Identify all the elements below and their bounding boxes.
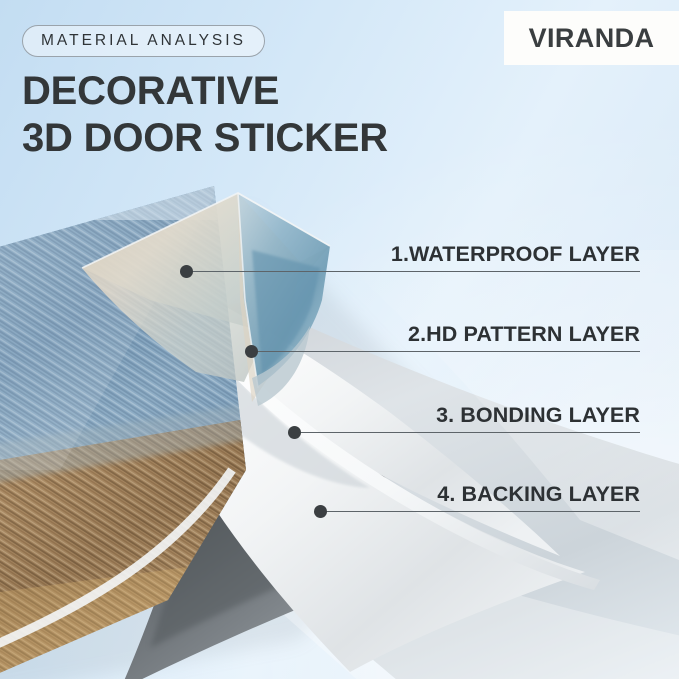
callout-2: 2.HD PATTERN LAYER bbox=[408, 322, 640, 352]
leader-line-4 bbox=[326, 511, 640, 512]
leader-dot-3 bbox=[288, 426, 301, 439]
callout-4: 4. BACKING LAYER bbox=[437, 482, 640, 512]
callout-label: 1.WATERPROOF LAYER bbox=[391, 242, 640, 271]
leader-line-2 bbox=[257, 351, 640, 352]
callout-label: 4. BACKING LAYER bbox=[437, 482, 640, 511]
callout-label: 2.HD PATTERN LAYER bbox=[408, 322, 640, 351]
brand-logo: VIRANDA bbox=[504, 11, 679, 65]
leader-dot-4 bbox=[314, 505, 327, 518]
leader-line-3 bbox=[300, 432, 640, 433]
leader-line-1 bbox=[192, 271, 640, 272]
callout-1: 1.WATERPROOF LAYER bbox=[391, 242, 640, 272]
material-analysis-badge: MATERIAL ANALYSIS bbox=[22, 25, 265, 57]
material-analysis-poster: MATERIAL ANALYSIS DECORATIVE 3D DOOR STI… bbox=[0, 0, 679, 679]
title-line-2: 3D DOOR STICKER bbox=[22, 115, 492, 162]
leader-dot-1 bbox=[180, 265, 193, 278]
leader-dot-2 bbox=[245, 345, 258, 358]
title-line-1: DECORATIVE bbox=[22, 68, 492, 115]
badge-label: MATERIAL ANALYSIS bbox=[41, 32, 246, 50]
brand-name: VIRANDA bbox=[529, 23, 655, 54]
page-title: DECORATIVE 3D DOOR STICKER bbox=[22, 68, 492, 162]
callout-3: 3. BONDING LAYER bbox=[436, 403, 640, 433]
callout-label: 3. BONDING LAYER bbox=[436, 403, 640, 432]
